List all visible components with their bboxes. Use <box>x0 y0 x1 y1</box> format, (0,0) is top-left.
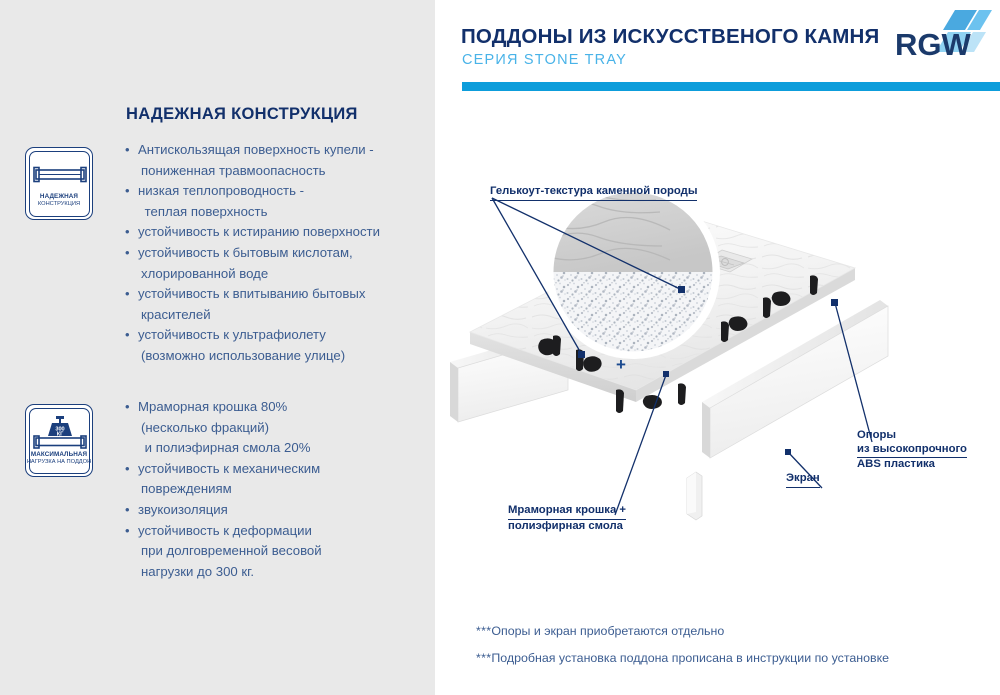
feature-bullet: устойчивость к впитыванию бытовых <box>124 284 424 305</box>
feature-bullet-continuation: пониженная травмоопасность <box>124 161 424 182</box>
weight-unit-text: КГ <box>57 432 64 438</box>
callout-supports-line3: ABS пластика <box>857 458 935 470</box>
screen-corner-piece <box>687 472 702 520</box>
callout-supports-line1: Опоры <box>857 429 896 441</box>
feature-bullet: устойчивость к ультрафиолету <box>124 325 424 346</box>
feature-bullet: звукоизоляция <box>124 500 424 521</box>
feature-bullet-continuation: теплая поверхность <box>124 202 424 223</box>
feature-bullet: Антискользящая поверхность купели - <box>124 140 424 161</box>
callout-screen-text: Экран <box>786 472 820 488</box>
feature-bullet: низкая теплопроводность - <box>124 181 424 202</box>
product-illustration <box>440 100 1000 570</box>
badge-reliable-construction: НАДЕЖНАЯ КОНСТРУКЦИЯ <box>25 147 93 220</box>
feature-bullet: устойчивость к деформации <box>124 521 424 542</box>
callout-gelcoat: Гелькоут-текстура каменной породы <box>490 185 697 201</box>
feature-list-construction: Антискользящая поверхность купели -пониж… <box>124 140 424 367</box>
badge-caption-line2: НАГРУЗКА НА ПОДДОН <box>26 459 92 465</box>
feature-bullet: Мраморная крошка 80% <box>124 397 424 418</box>
callout-supports-line2: из высокопрочного <box>857 443 967 459</box>
rgw-logo: RGW <box>893 8 993 70</box>
callout-marble: Мраморная крошка + полиэфирная смола <box>508 504 626 533</box>
poster-page: ПОДДОНЫ ИЗ ИСКУССТВЕНОГО КАМНЯ СЕРИЯ STO… <box>0 0 1000 695</box>
feature-bullet-continuation: и полиэфирная смола 20% <box>124 438 424 459</box>
section-title: НАДЕЖНАЯ КОНСТРУКЦИЯ <box>126 105 358 124</box>
feature-bullet: устойчивость к бытовым кислотам, <box>124 243 424 264</box>
feature-bullet-continuation: при долговременной весовой <box>124 541 424 562</box>
badge-caption-line1: НАДЕЖНАЯ <box>26 194 92 201</box>
footnote-marker: *** <box>476 624 491 638</box>
page-title: ПОДДОНЫ ИЗ ИСКУССТВЕНОГО КАМНЯ <box>461 25 901 49</box>
footnote-1: ***Опоры и экран приобретаются отдельно <box>476 624 724 638</box>
badge-caption-line2: КОНСТРУКЦИЯ <box>26 201 92 207</box>
footnote-2: ***Подробная установка поддона прописана… <box>476 651 889 665</box>
feature-list-material: Мраморная крошка 80%(несколько фракций) … <box>124 397 424 582</box>
badge-caption-line1: МАКСИМАЛЬНАЯ <box>26 452 92 459</box>
feature-bullet: устойчивость к механическим <box>124 459 424 480</box>
callout-marble-line1: Мраморная крошка + <box>508 504 626 520</box>
feature-bullet-continuation: повреждениям <box>124 479 424 500</box>
callout-marble-line2: полиэфирная смола <box>508 520 623 532</box>
plus-symbol: + <box>616 355 626 375</box>
badge-caption: МАКСИМАЛЬНАЯ НАГРУЗКА НА ПОДДОН <box>26 452 92 465</box>
feature-bullet-continuation: (возможно использование улице) <box>124 346 424 367</box>
feature-bullet-continuation: красителей <box>124 305 424 326</box>
header-accent-bar <box>462 82 1000 91</box>
footnote-text: Опоры и экран приобретаются отдельно <box>491 624 724 638</box>
badge-caption: НАДЕЖНАЯ КОНСТРУКЦИЯ <box>26 194 92 207</box>
callout-supports: Опоры из высокопрочного ABS пластика <box>857 429 967 472</box>
badge-max-load: 300 КГ МАКСИМАЛЬНАЯ НАГРУЗКА НА ПОДДОН <box>25 404 93 477</box>
feature-bullet-continuation: (несколько фракций) <box>124 418 424 439</box>
footnote-marker: *** <box>476 651 491 665</box>
tray-profile-icon <box>26 164 92 191</box>
page-subtitle: СЕРИЯ STONE TRAY <box>462 52 627 68</box>
callout-screen: Экран <box>786 472 820 488</box>
logo-wordmark: RGW <box>895 27 972 62</box>
feature-bullet-continuation: нагрузки до 300 кг. <box>124 562 424 583</box>
magnifier-detail-circle <box>546 185 720 359</box>
callout-gelcoat-text: Гелькоут-текстура каменной породы <box>490 185 697 201</box>
footnote-text: Подробная установка поддона прописана в … <box>491 651 889 665</box>
feature-bullet-continuation: хлорированной воде <box>124 264 424 285</box>
feature-bullet: устойчивость к истиранию поверхности <box>124 222 424 243</box>
